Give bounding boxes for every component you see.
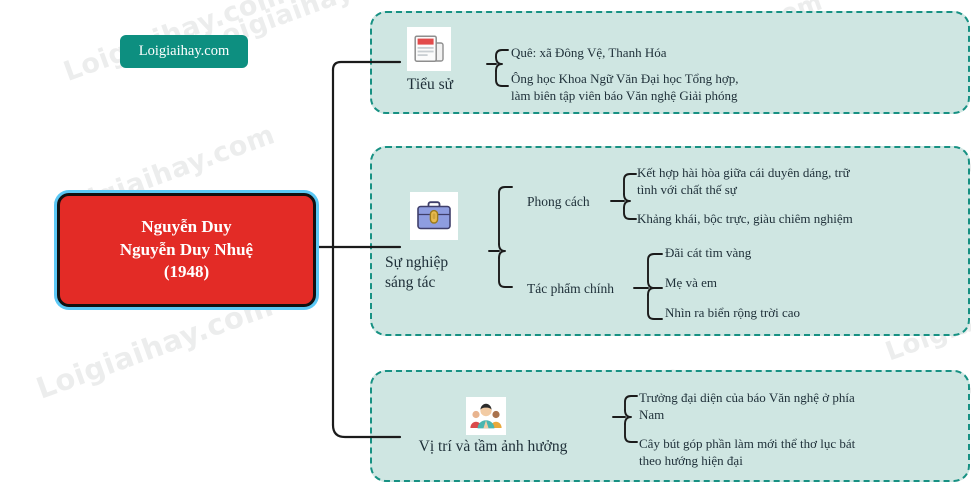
leaf-text: Mẹ và em — [665, 275, 955, 292]
people-icon — [466, 397, 506, 435]
branch-label-su-nghiep: Sự nghiệp sáng tác — [385, 253, 485, 293]
sub-label-tac-pham-chinh: Tác phẩm chính — [527, 280, 614, 298]
branch-label-vi-tri: Vị trí và tầm ảnh hưởng — [388, 437, 598, 457]
leaf-text: Quê: xã Đông Vệ, Thanh Hóa — [511, 45, 911, 62]
leaf-text: Kết hợp hài hòa giữa cái duyên dáng, trữ… — [637, 165, 947, 198]
leaf-text: Khảng khái, bộc trực, giàu chiêm nghiệm — [637, 211, 947, 228]
leaf-text: Nhìn ra biển rộng trời cao — [665, 305, 955, 322]
briefcase-icon — [410, 192, 458, 240]
logo-badge[interactable]: Loigiaihay.com — [120, 35, 248, 68]
branch-label-tieu-su: Tiểu sử — [381, 75, 479, 95]
central-node[interactable]: Nguyễn Duy Nguyễn Duy Nhuệ (1948) — [57, 193, 316, 307]
leaf-text: Ông học Khoa Ngữ Văn Đại học Tổng hợp, l… — [511, 71, 911, 104]
logo-text: Loigiaihay.com — [139, 43, 229, 60]
central-node-line-1: Nguyễn Duy — [141, 216, 231, 239]
newspaper-icon — [407, 27, 451, 71]
central-node-line-2: Nguyễn Duy Nhuệ — [120, 239, 253, 262]
sub-label-phong-cach: Phong cách — [527, 193, 590, 211]
leaf-text: Cây bút góp phần làm mới thể thơ lục bát… — [639, 436, 939, 469]
central-node-line-3: (1948) — [164, 261, 209, 284]
mindmap-canvas: Loigiaihay.com Loigiaihay.com Loigiaihay… — [0, 0, 971, 490]
leaf-text: Trưởng đại diện của báo Văn nghệ ở phía … — [639, 390, 939, 423]
leaf-text: Đãi cát tìm vàng — [665, 245, 955, 262]
